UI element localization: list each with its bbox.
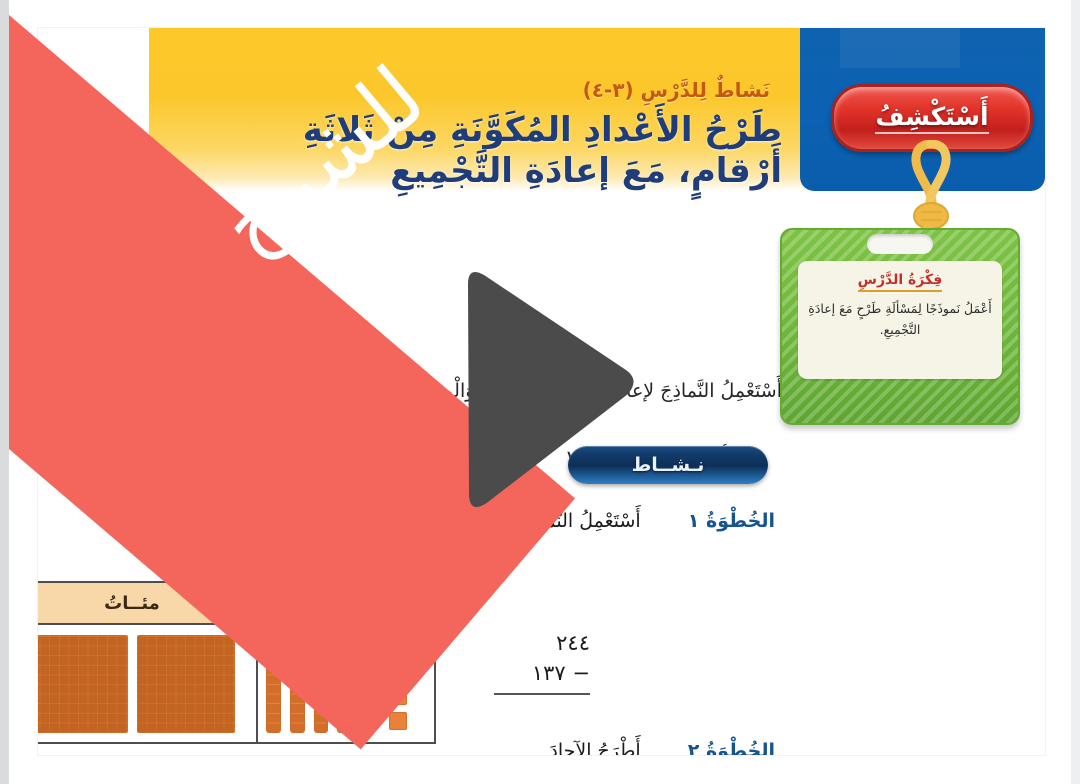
pv-body-tens bbox=[258, 625, 360, 742]
lesson-idea-card: فِكْرَةُ الدَّرْسِ أَعْمَلُ نَموذَجًا لِ… bbox=[780, 228, 1020, 425]
flat-block bbox=[137, 635, 235, 733]
pv-header-ones: آحادُ bbox=[362, 583, 434, 625]
activity-badge-label: نـشــاط bbox=[632, 454, 705, 476]
blue-panel-sheen bbox=[840, 28, 960, 68]
rod-block bbox=[314, 635, 329, 733]
pv-column-ones: آحادُ bbox=[360, 583, 434, 742]
ones-stack bbox=[389, 637, 407, 730]
qr-caption: رابط الدرس الرقمي bbox=[54, 126, 126, 138]
place-value-table: آحادُ عشراتُ bbox=[38, 581, 436, 744]
subtraction-subtrahend: ١٣٧ − bbox=[482, 658, 590, 688]
subtraction-rule bbox=[494, 693, 590, 695]
step-2-label: الخُطْوَةُ ٢ bbox=[688, 740, 775, 755]
rod-block bbox=[266, 635, 281, 733]
lesson-kicker: نَشاطٌ لِلدَّرْسِ (٣-٤) bbox=[583, 78, 770, 102]
unit-block bbox=[389, 712, 407, 730]
step-1-label: الخُطْوَةُ ١ bbox=[688, 510, 775, 532]
unit-block bbox=[389, 687, 407, 705]
subtraction-minuend: ٢٤٤ bbox=[482, 628, 590, 658]
player-left-gutter bbox=[0, 0, 9, 784]
qr-eye-top-left bbox=[56, 138, 83, 165]
unit-block bbox=[389, 637, 407, 655]
qr-eye-bottom-left bbox=[56, 187, 83, 214]
pv-header-tens: عشراتُ bbox=[258, 583, 360, 625]
player-right-gutter bbox=[1071, 0, 1080, 784]
play-button[interactable] bbox=[448, 266, 638, 512]
step-2-text: أَطْرَحُ الآحادَ bbox=[549, 740, 640, 755]
qr-eye-top-right bbox=[97, 138, 124, 165]
qr-code-icon[interactable] bbox=[56, 138, 124, 214]
page-title: طَرْحُ الأَعْدادِ المُكَوَّنَةِ مِنْ ثَل… bbox=[262, 110, 782, 193]
video-player[interactable]: رابط الدرس الرقمي ien.edu.sa نَشاطٌ لِلد… bbox=[0, 0, 1080, 784]
lesson-idea-inner: فِكْرَةُ الدَّرْسِ أَعْمَلُ نَموذَجًا لِ… bbox=[798, 261, 1002, 379]
pv-body-hundreds bbox=[38, 625, 256, 742]
subtraction-problem: ٢٤٤ ١٣٧ − bbox=[482, 628, 590, 695]
explore-button-label: أَسْتَكْشِفُ bbox=[875, 102, 988, 134]
lesson-idea-body: أَعْمَلُ نَموذَجًا لِمَسْألَةِ طَرْحٍ مَ… bbox=[807, 299, 993, 340]
rod-block bbox=[290, 635, 305, 733]
step-row-2: الخُطْوَةُ ٢ أَطْرَحُ الآحادَ bbox=[549, 740, 775, 755]
unit-block bbox=[389, 662, 407, 680]
pv-column-hundreds: مئــاتُ bbox=[38, 583, 256, 742]
pv-body-ones bbox=[362, 625, 434, 742]
qr-url-label: ien.edu.sa bbox=[54, 216, 126, 222]
rod-block bbox=[337, 635, 352, 733]
card-slot bbox=[867, 234, 933, 254]
flat-block bbox=[38, 635, 128, 733]
pv-column-tens: عشراتُ bbox=[256, 583, 360, 742]
pv-header-hundreds: مئــاتُ bbox=[38, 583, 256, 625]
step-row-1: الخُطْوَةُ ١ أَسْتَعْمِلُ النَّماذِجَ bbox=[519, 510, 775, 532]
step-1-text: أَسْتَعْمِلُ النَّماذِجَ bbox=[519, 510, 641, 532]
lesson-idea-heading: فِكْرَةُ الدَّرْسِ bbox=[858, 272, 943, 292]
qr-code-block[interactable]: رابط الدرس الرقمي ien.edu.sa bbox=[54, 126, 126, 230]
